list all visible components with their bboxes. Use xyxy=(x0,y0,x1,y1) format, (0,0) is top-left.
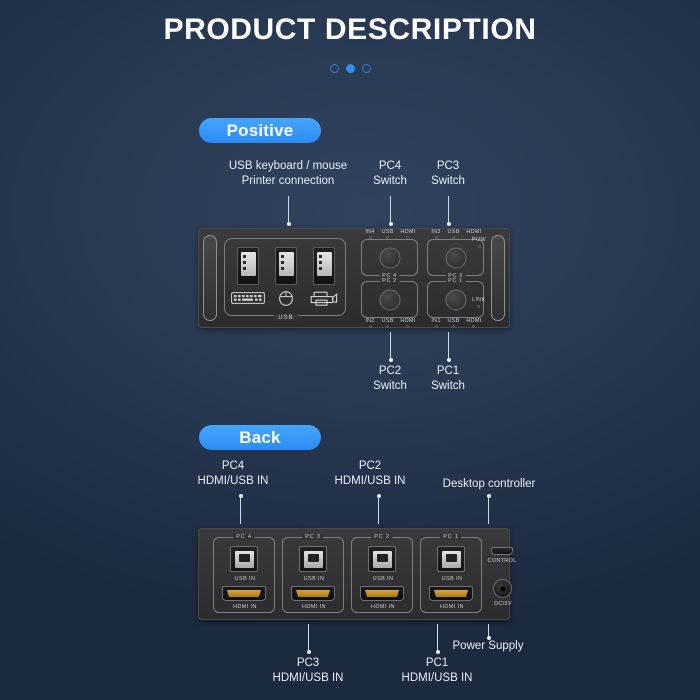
led-cell-pc1-usb: USB xyxy=(447,318,459,328)
leader-pc4-switch xyxy=(390,196,391,224)
callout-usb-connection: USB keyboard / mouse Printer connection xyxy=(208,159,368,188)
callout-pc1-switch-line1: PC1 xyxy=(421,364,475,379)
dc-power-label: DC/5V xyxy=(481,601,525,607)
callout-pc4-switch-line2: Switch xyxy=(363,174,417,189)
switch-button-pc3[interactable] xyxy=(445,247,466,268)
led-pc1-usb xyxy=(452,325,455,328)
usb-in-label-pc3: USB IN xyxy=(283,576,345,582)
leader-back-pc4 xyxy=(240,496,241,524)
led-label-pc3-usb: USB xyxy=(447,229,459,235)
carousel-dot-2[interactable] xyxy=(346,64,355,73)
section-pill-back: Back xyxy=(199,425,321,450)
switch-label-pc1: PC 1 xyxy=(445,278,466,284)
printer-icon xyxy=(309,291,339,306)
callout-back-pc4-line1: PC4 xyxy=(178,459,288,474)
callout-back-pc2: PC2 HDMI/USB IN xyxy=(315,459,425,488)
led-cell-in3: IN3 xyxy=(431,229,440,239)
led-in2 xyxy=(369,325,372,328)
hdmi-in-label-pc1: HDMI IN xyxy=(421,604,483,610)
usb-port-keyboard[interactable] xyxy=(237,247,259,285)
led-cell-pc2-usb: USB xyxy=(381,318,393,328)
led-cell-pc1-hdmi: HDMI xyxy=(466,318,481,328)
port-group-title-pc3: PC 3 xyxy=(302,534,323,540)
switch-button-pc4[interactable] xyxy=(379,247,400,268)
callout-pc4-switch-line1: PC4 xyxy=(363,159,417,174)
led-label-pc4-usb: USB xyxy=(381,229,393,235)
page-title: PRODUCT DESCRIPTION xyxy=(0,13,700,47)
led-label-pc1-usb: USB xyxy=(447,318,459,324)
led-pc4-hdmi xyxy=(406,236,409,239)
switch-group-pc4[interactable]: IN4 USB HDMI PC 4 xyxy=(361,239,418,276)
led-pc3-usb xyxy=(452,236,455,239)
usb-port-block: USB xyxy=(224,238,346,316)
led-in4 xyxy=(369,236,372,239)
product-description-slide: PRODUCT DESCRIPTION Positive USB keyboar… xyxy=(0,0,700,700)
callout-back-pc1: PC1 HDMI/USB IN xyxy=(382,656,492,685)
led-pc2-usb xyxy=(386,325,389,328)
kvm-front-panel: USB IN4 USB HDMI PC 4 xyxy=(198,228,510,328)
mounting-ear-right xyxy=(491,235,505,321)
led-cell-in1: IN1 xyxy=(431,318,440,328)
callout-pc2-switch-line1: PC2 xyxy=(363,364,417,379)
callout-back-pc2-line1: PC2 xyxy=(315,459,425,474)
led-link xyxy=(477,305,480,308)
carousel-dot-3[interactable] xyxy=(362,64,371,73)
led-cell-in2: IN2 xyxy=(365,318,374,328)
hdmi-port-pc2[interactable] xyxy=(360,586,404,601)
leader-desktop-controller xyxy=(488,496,489,524)
usb-b-port-pc1[interactable] xyxy=(437,546,465,572)
led-cell-pc3-usb: USB xyxy=(447,229,459,239)
switch-button-pc2[interactable] xyxy=(379,289,400,310)
mouse-icon xyxy=(275,291,297,306)
usb-in-label-pc2: USB IN xyxy=(352,576,414,582)
switch-button-pc1[interactable] xyxy=(445,289,466,310)
port-group-title-pc2: PC 2 xyxy=(371,534,392,540)
callout-power-supply-text: Power Supply xyxy=(438,639,538,654)
mounting-ear-left xyxy=(203,235,217,321)
leader-back-pc2 xyxy=(378,496,379,524)
leader-back-pc3 xyxy=(308,624,309,652)
callout-pc3-switch-line2: Switch xyxy=(421,174,475,189)
callout-pc2-switch-line2: Switch xyxy=(363,379,417,394)
hdmi-in-label-pc4: HDMI IN xyxy=(214,604,276,610)
led-cell-pc4-usb: USB xyxy=(381,229,393,239)
port-group-pc4: PC 4 USB IN HDMI IN xyxy=(213,537,275,613)
port-group-pc3: PC 3 USB IN HDMI IN xyxy=(282,537,344,613)
port-group-title-pc1: PC 1 xyxy=(440,534,461,540)
led-label-in4: IN4 xyxy=(365,229,374,235)
indicator-pow: POW xyxy=(472,237,486,248)
callout-pc3-switch-line1: PC3 xyxy=(421,159,475,174)
usb-b-port-pc4[interactable] xyxy=(230,546,258,572)
led-cell-pc4-hdmi: HDMI xyxy=(400,229,415,239)
carousel-dots xyxy=(0,64,700,73)
leader-pc1-switch xyxy=(448,332,449,360)
led-label-in2: IN2 xyxy=(365,318,374,324)
kvm-back-panel: PC 4 USB IN HDMI IN PC 3 USB IN HDMI IN … xyxy=(198,528,510,620)
micro-usb-control-port[interactable] xyxy=(491,547,513,555)
leader-pc3-switch xyxy=(448,196,449,224)
callout-pc1-switch-line2: Switch xyxy=(421,379,475,394)
callout-usb-line2: Printer connection xyxy=(208,174,368,189)
hdmi-port-pc3[interactable] xyxy=(291,586,335,601)
led-label-pc4-hdmi: HDMI xyxy=(400,229,415,235)
led-pc1-hdmi xyxy=(472,325,475,328)
callout-back-pc3: PC3 HDMI/USB IN xyxy=(253,656,363,685)
callout-back-pc3-line1: PC3 xyxy=(253,656,363,671)
usb-in-label-pc4: USB IN xyxy=(214,576,276,582)
callout-power-supply: Power Supply xyxy=(438,639,538,654)
leader-pc2-switch xyxy=(390,332,391,360)
control-port-label: CONTROL xyxy=(480,558,524,564)
leader-usb xyxy=(288,196,289,224)
callout-back-pc1-line1: PC1 xyxy=(382,656,492,671)
port-group-pc2: PC 2 USB IN HDMI IN xyxy=(351,537,413,613)
callout-back-pc3-line2: HDMI/USB IN xyxy=(253,671,363,686)
callout-pc2-switch: PC2 Switch xyxy=(363,364,417,393)
led-pow xyxy=(478,245,481,248)
led-row-pc4: IN4 USB HDMI xyxy=(362,229,419,239)
led-pc4-usb xyxy=(386,236,389,239)
hdmi-in-label-pc3: HDMI IN xyxy=(283,604,345,610)
callout-pc1-switch: PC1 Switch xyxy=(421,364,475,393)
hdmi-port-pc4[interactable] xyxy=(222,586,266,601)
port-group-pc1: PC 1 USB IN HDMI IN xyxy=(420,537,482,613)
led-label-pc3-hdmi: HDMI xyxy=(466,229,481,235)
callout-desktop-controller-text: Desktop controller xyxy=(424,477,554,492)
indicator-label-link: LINK xyxy=(472,297,485,303)
callout-usb-line1: USB keyboard / mouse xyxy=(208,159,368,174)
callout-desktop-controller: Desktop controller xyxy=(424,477,554,492)
hdmi-port-pc1[interactable] xyxy=(429,586,473,601)
usb-b-port-pc2[interactable] xyxy=(368,546,396,572)
led-label-pc2-usb: USB xyxy=(381,318,393,324)
callout-back-pc2-line2: HDMI/USB IN xyxy=(315,474,425,489)
led-pc2-hdmi xyxy=(406,325,409,328)
callout-pc3-switch: PC3 Switch xyxy=(421,159,475,188)
callout-back-pc1-line2: HDMI/USB IN xyxy=(382,671,492,686)
led-cell-pc2-hdmi: HDMI xyxy=(400,318,415,328)
callout-back-pc4-line2: HDMI/USB IN xyxy=(178,474,288,489)
usb-b-port-pc3[interactable] xyxy=(299,546,327,572)
indicator-link: LINK xyxy=(472,297,485,308)
led-cell-in4: IN4 xyxy=(365,229,374,239)
switch-group-pc2[interactable]: PC 2 IN2 USB HDMI xyxy=(361,281,418,318)
led-in3 xyxy=(435,236,438,239)
leader-power-supply xyxy=(488,624,489,638)
dc-power-jack[interactable] xyxy=(493,579,512,598)
switch-label-pc2: PC 2 xyxy=(379,278,400,284)
led-label-pc2-hdmi: HDMI xyxy=(400,318,415,324)
indicator-label-pow: POW xyxy=(472,237,486,243)
led-in1 xyxy=(435,325,438,328)
led-label-in3: IN3 xyxy=(431,229,440,235)
usb-block-caption: USB xyxy=(225,315,347,321)
usb-port-mouse[interactable] xyxy=(275,247,297,285)
section-pill-positive: Positive xyxy=(199,118,321,143)
led-row-pc2: IN2 USB HDMI xyxy=(362,318,419,328)
carousel-dot-1[interactable] xyxy=(330,64,339,73)
usb-in-label-pc1: USB IN xyxy=(421,576,483,582)
port-group-title-pc4: PC 4 xyxy=(233,534,254,540)
usb-block-caption-text: USB xyxy=(274,315,297,321)
callout-back-pc4: PC4 HDMI/USB IN xyxy=(178,459,288,488)
led-label-in1: IN1 xyxy=(431,318,440,324)
led-label-pc1-hdmi: HDMI xyxy=(466,318,481,324)
usb-port-printer[interactable] xyxy=(313,247,335,285)
keyboard-icon xyxy=(230,291,266,304)
hdmi-in-label-pc2: HDMI IN xyxy=(352,604,414,610)
callout-pc4-switch: PC4 Switch xyxy=(363,159,417,188)
led-row-pc1: IN1 USB HDMI xyxy=(428,318,485,328)
